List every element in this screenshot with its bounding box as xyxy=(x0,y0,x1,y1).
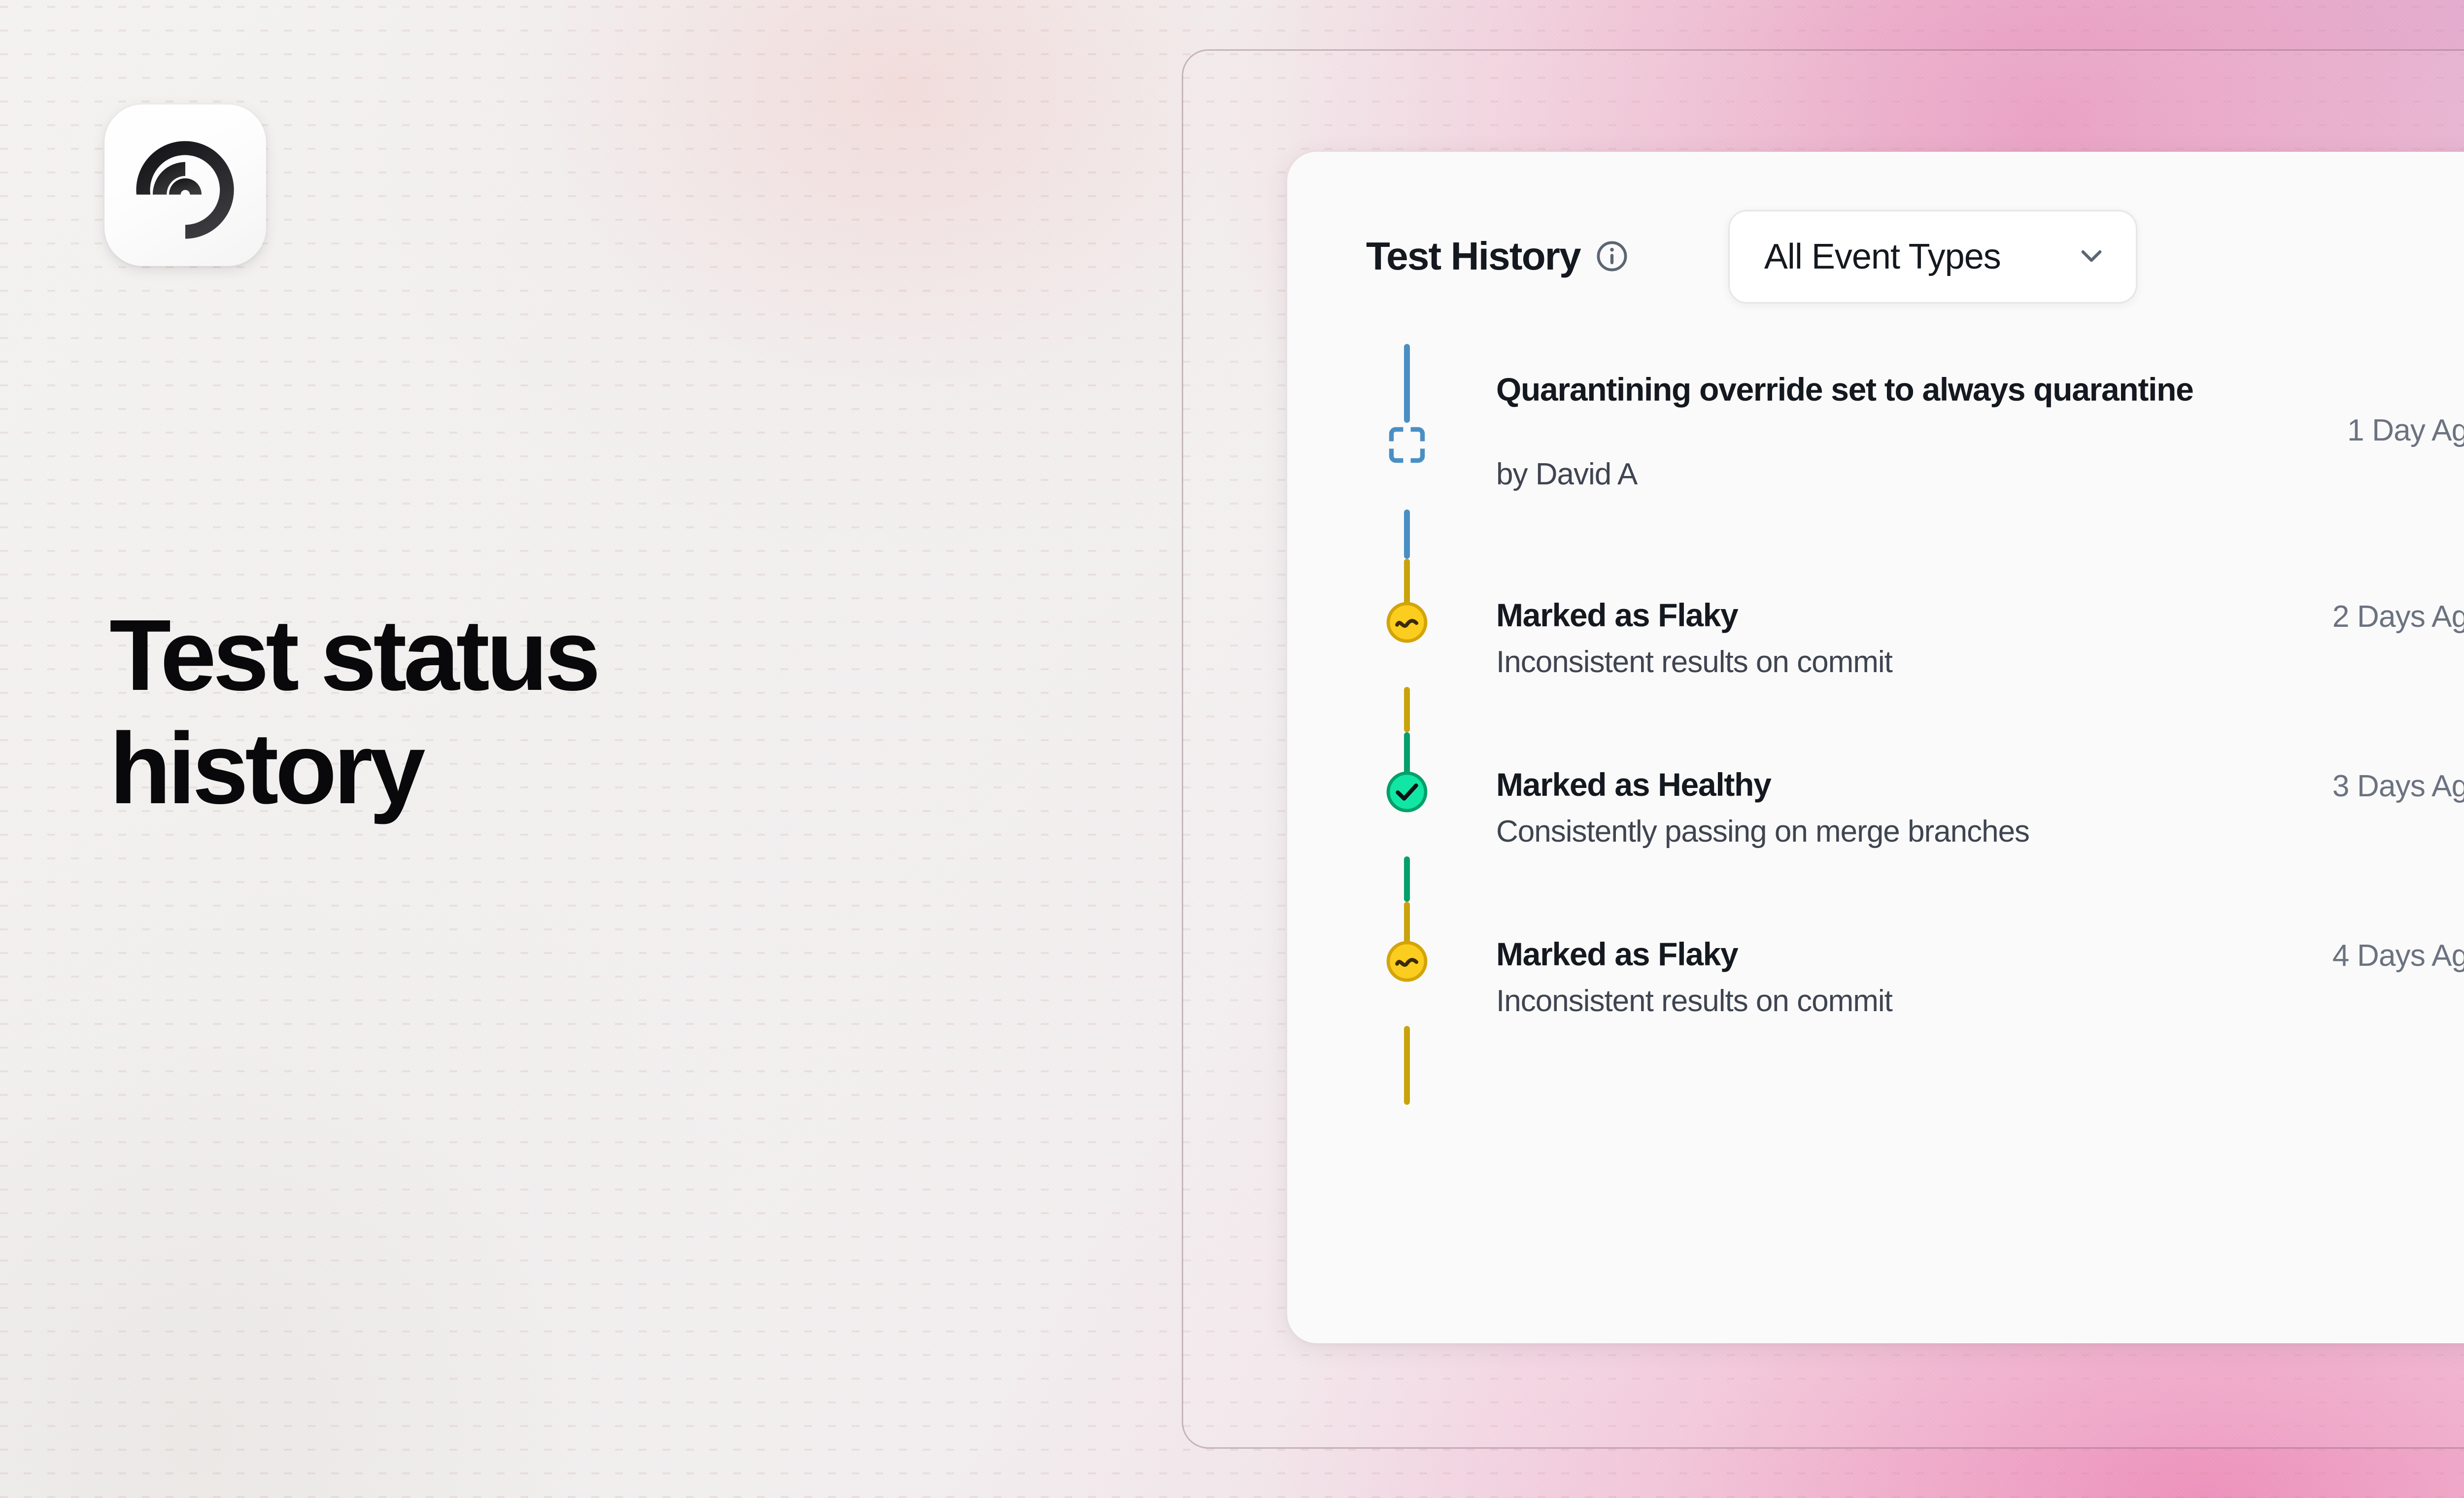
card-title: Test History xyxy=(1366,234,1580,279)
flaky-wave-icon xyxy=(1386,940,1428,983)
quarantine-bracket-icon xyxy=(1386,424,1428,466)
event-time: 3 Days Ago xyxy=(2332,765,2464,804)
info-circle-icon[interactable] xyxy=(1594,238,1630,274)
trunk-waves-logo-icon xyxy=(127,127,243,243)
event-time: 2 Days Ago xyxy=(2332,595,2464,634)
event-title: Quarantining override set to always quar… xyxy=(1496,370,2193,410)
timeline-rail-1-bot xyxy=(1404,559,1410,608)
timeline-rail-bottom xyxy=(1404,1026,1410,1105)
event-title: Marked as Flaky xyxy=(1496,595,1738,636)
event-byline: by David A xyxy=(1496,457,2464,492)
card-title-group: Test History xyxy=(1366,210,1630,279)
event-description: Inconsistent results on commit xyxy=(1496,983,2464,1021)
event-type-filter-value: All Event Types xyxy=(1764,237,2001,277)
test-history-card: Test History All Event Types xyxy=(1287,152,2464,1343)
timeline-rail-top xyxy=(1404,344,1410,423)
page-title-line-1: Test status xyxy=(109,599,597,712)
timeline-rail-3-top xyxy=(1404,856,1410,902)
timeline-rail-1-top xyxy=(1404,510,1410,559)
card-header: Test History All Event Types xyxy=(1366,210,2464,333)
app-logo xyxy=(104,104,266,266)
event-time: 1 Day Ago xyxy=(2347,370,2464,448)
timeline-rail-2-top xyxy=(1404,687,1410,732)
event-time: 4 Days Ago xyxy=(2332,934,2464,973)
flaky-wave-icon xyxy=(1386,601,1428,644)
test-history-timeline: Quarantining override set to always quar… xyxy=(1366,344,2464,1343)
event-title: Marked as Healthy xyxy=(1496,765,1771,805)
event-description: Consistently passing on merge branches xyxy=(1496,813,2464,851)
event-type-filter-dropdown[interactable]: All Event Types xyxy=(1728,210,2137,304)
healthy-check-icon xyxy=(1386,771,1428,813)
page-title: Test status history xyxy=(109,599,597,825)
event-description: Inconsistent results on commit xyxy=(1496,644,2464,681)
event-title: Marked as Flaky xyxy=(1496,934,1738,975)
chevron-down-icon xyxy=(2076,240,2107,274)
page-title-line-2: history xyxy=(109,712,597,825)
